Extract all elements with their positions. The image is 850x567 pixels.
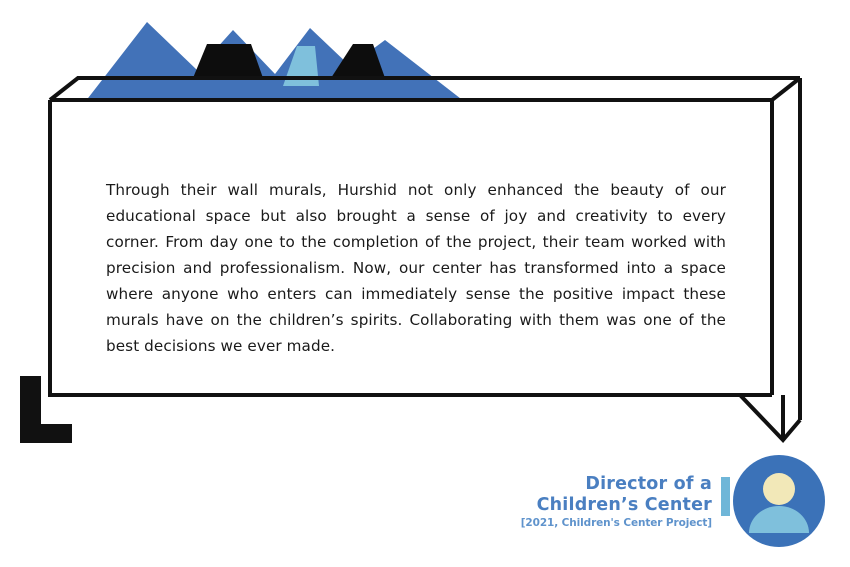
corner-bracket-quote-icon [20, 376, 72, 443]
attribution-line-1: Director of a [521, 474, 712, 495]
attribution-line-2: Children’s Center [521, 495, 712, 516]
avatar-head [763, 473, 795, 505]
attribution-meta: [2021, Children's Center Project] [521, 516, 712, 530]
mountain-range-shape [85, 22, 465, 102]
attribution-accent-bar [721, 477, 730, 516]
mountain-peaks-icon [85, 18, 465, 108]
testimonial-card: Through their wall murals, Hurshid not o… [0, 0, 850, 567]
person-avatar-icon [733, 455, 825, 547]
quote-text: Through their wall murals, Hurshid not o… [106, 177, 726, 359]
attribution-text: Director of a Children’s Center [2021, C… [521, 474, 721, 530]
attribution-block: Director of a Children’s Center [2021, C… [521, 474, 730, 530]
mountain-dark-triangle-left [193, 44, 263, 78]
